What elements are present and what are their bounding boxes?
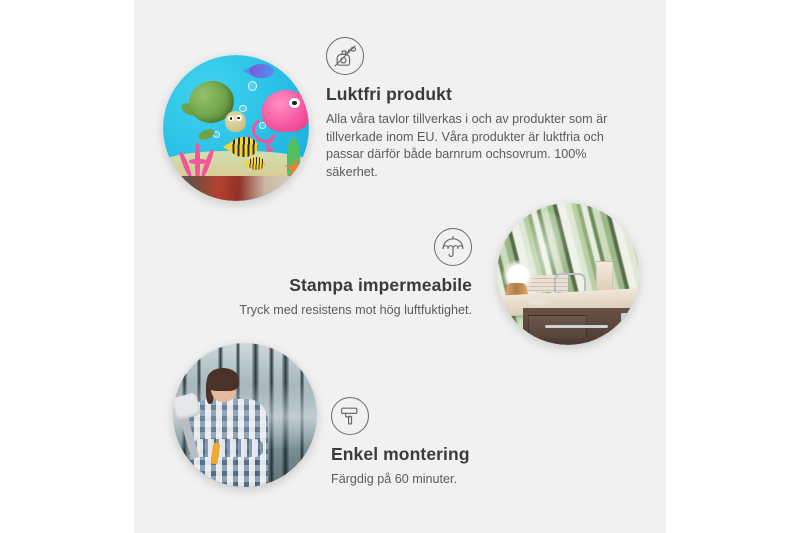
feature-title: Luktfri produkt bbox=[326, 84, 626, 105]
feature-waterproof: Stampa impermeabile Tryck med resistens … bbox=[180, 228, 472, 320]
blue-fish-illustration bbox=[249, 64, 274, 79]
underwater-cartoon-photo bbox=[163, 55, 309, 201]
sea-turtle-illustration bbox=[183, 78, 247, 136]
feature-odourless: Luktfri produkt Alla våra tavlor tillver… bbox=[326, 37, 626, 181]
yellow-fish-illustration bbox=[230, 137, 258, 157]
feature-description: Alla våra tavlor tillverkas i och av pro… bbox=[326, 111, 612, 181]
umbrella-icon bbox=[434, 228, 472, 266]
infographic-canvas: Luktfri produkt Alla våra tavlor tillver… bbox=[0, 0, 800, 533]
wood-cabinet bbox=[523, 308, 639, 345]
feature-mounting: Enkel montering Färgdig på 60 minuter. bbox=[331, 397, 611, 489]
no-fragrance-icon bbox=[326, 37, 364, 75]
photo-bottom-strip bbox=[163, 176, 309, 201]
woman-paint-roller-photo bbox=[173, 343, 317, 487]
drawer-handle bbox=[545, 325, 607, 328]
paint-roller-icon bbox=[331, 397, 369, 435]
crossed-arms bbox=[192, 439, 264, 457]
feature-description: Tryck med resistens mot hög luftfuktighe… bbox=[180, 302, 472, 320]
small-fish-illustration bbox=[248, 157, 266, 170]
woman-figure bbox=[187, 372, 271, 487]
feature-title: Enkel montering bbox=[331, 444, 611, 465]
hair bbox=[207, 368, 239, 391]
coral-illustration bbox=[176, 131, 220, 181]
cabinet-handle bbox=[621, 313, 627, 339]
octopus-illustration bbox=[251, 90, 309, 157]
feature-description: Färgdig på 60 minuter. bbox=[331, 471, 611, 489]
bathroom-vanity-photo bbox=[497, 203, 639, 345]
feature-title: Stampa impermeabile bbox=[180, 275, 472, 296]
